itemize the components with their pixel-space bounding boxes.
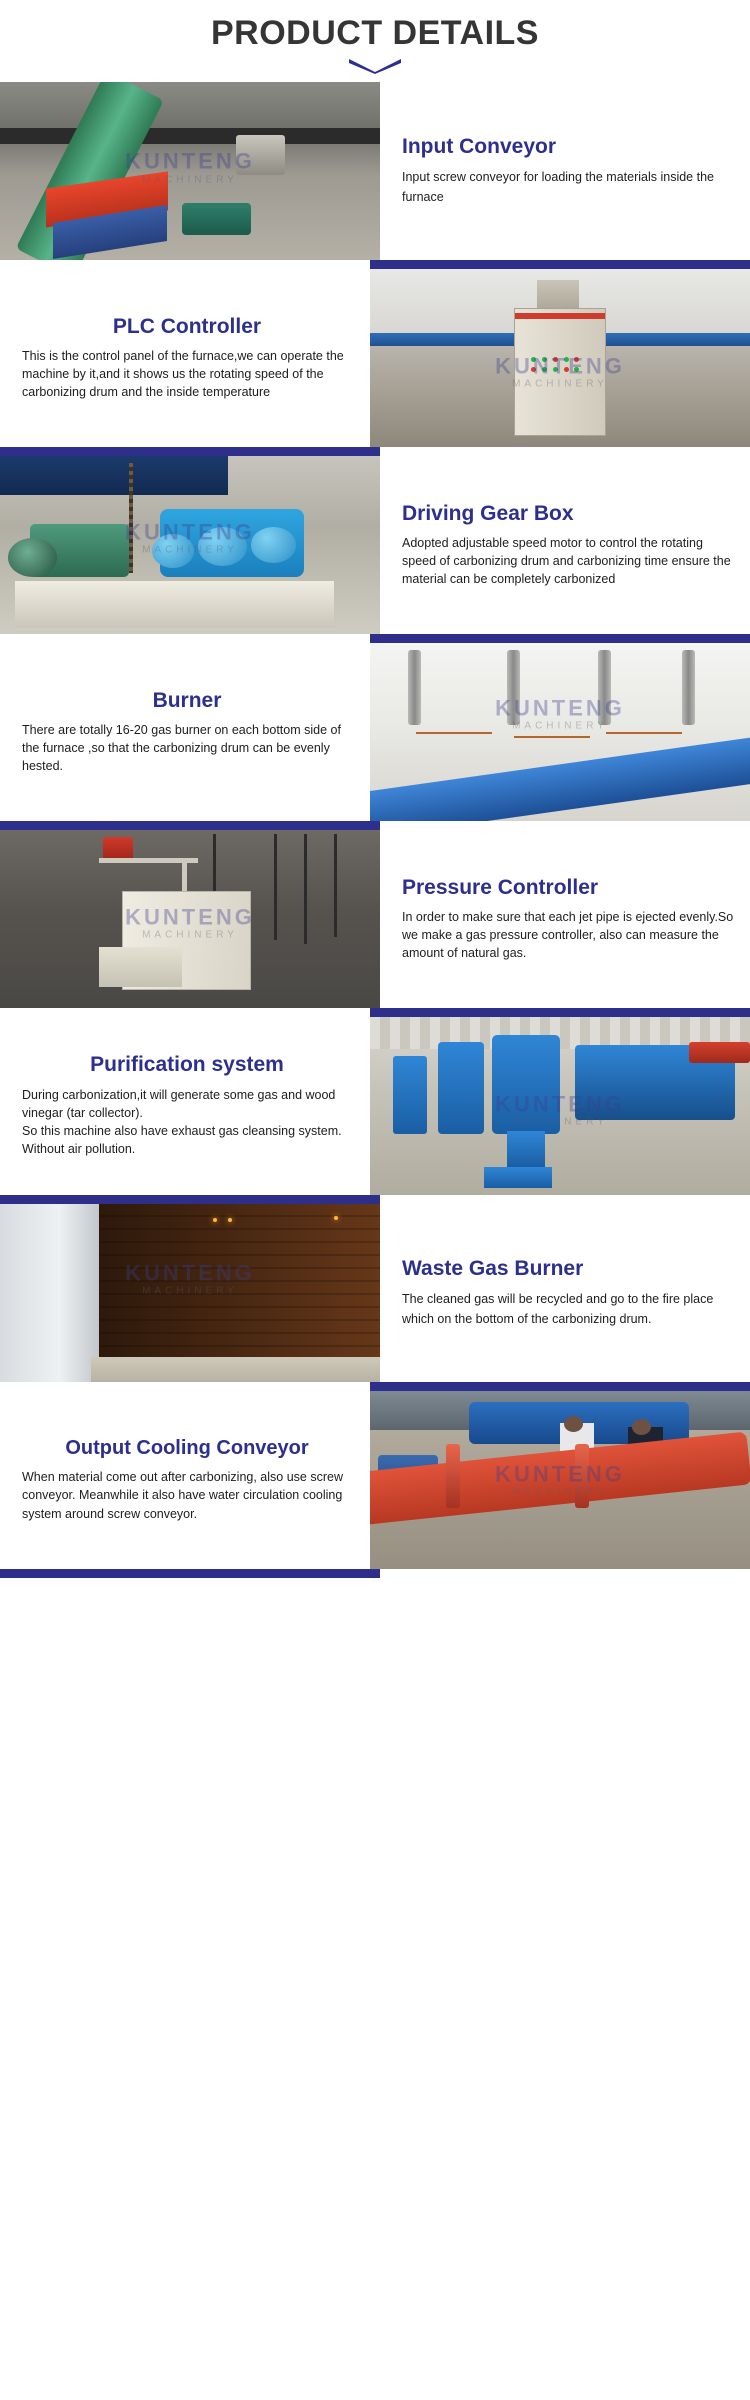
section-image-driving-gear-box: KUNTENG MACHINERY xyxy=(0,456,380,634)
divider xyxy=(0,260,750,269)
divider xyxy=(0,447,750,456)
divider xyxy=(0,821,750,830)
section-heading: Input Conveyor xyxy=(402,135,736,158)
section-image-burner: KUNTENG MACHINERY xyxy=(370,643,750,821)
section-text-plc-controller: PLC Controller This is the control panel… xyxy=(0,269,370,447)
section-pressure-controller: KUNTENG MACHINERY Pressure Controller In… xyxy=(0,830,750,1017)
section-image-input-conveyor: KUNTENG MACHINERY xyxy=(0,82,380,260)
section-text-input-conveyor: Input Conveyor Input screw conveyor for … xyxy=(380,82,750,260)
section-heading: Burner xyxy=(22,689,352,712)
section-heading: Output Cooling Conveyor xyxy=(22,1437,352,1459)
section-waste-gas-burner: KUNTENG MACHINERY Waste Gas Burner The c… xyxy=(0,1204,750,1391)
section-body: Adopted adjustable speed motor to contro… xyxy=(402,534,736,589)
divider xyxy=(0,1382,750,1391)
section-image-output-cooling-conveyor: KUNTENG MACHINERY xyxy=(370,1391,750,1569)
page-title: PRODUCT DETAILS xyxy=(0,0,750,50)
section-output-cooling-conveyor: KUNTENG MACHINERY Output Cooling Conveyo… xyxy=(0,1391,750,1578)
section-heading: PLC Controller xyxy=(22,315,352,338)
section-driving-gear-box: KUNTENG MACHINERY Driving Gear Box Adopt… xyxy=(0,456,750,643)
section-image-purification-system: KUNTENG MACHINERY xyxy=(370,1017,750,1195)
section-input-conveyor: KUNTENG MACHINERY Input Conveyor Input s… xyxy=(0,82,750,269)
section-heading: Waste Gas Burner xyxy=(402,1257,736,1280)
section-heading: Driving Gear Box xyxy=(402,502,736,525)
section-purification-system: KUNTENG MACHINERY Purification system Du… xyxy=(0,1017,750,1204)
section-body: The cleaned gas will be recycled and go … xyxy=(402,1289,736,1330)
divider xyxy=(0,634,750,643)
section-body: There are totally 16-20 gas burner on ea… xyxy=(22,721,352,776)
section-body: During carbonization,it will generate so… xyxy=(22,1086,352,1159)
section-image-pressure-controller: KUNTENG MACHINERY xyxy=(0,830,380,1008)
chevron-wrap xyxy=(0,58,750,74)
section-heading: Pressure Controller xyxy=(402,876,736,899)
divider xyxy=(0,1569,750,1578)
page-header: PRODUCT DETAILS xyxy=(0,0,750,82)
divider xyxy=(0,1195,750,1204)
section-body: This is the control panel of the furnace… xyxy=(22,347,352,402)
section-image-plc-controller: KUNTENG MACHINERY xyxy=(370,269,750,447)
divider xyxy=(0,1008,750,1017)
chevron-down-icon xyxy=(349,58,401,74)
section-text-driving-gear-box: Driving Gear Box Adopted adjustable spee… xyxy=(380,456,750,634)
section-text-waste-gas-burner: Waste Gas Burner The cleaned gas will be… xyxy=(380,1204,750,1382)
section-heading: Purification system xyxy=(22,1053,352,1076)
section-body: In order to make sure that each jet pipe… xyxy=(402,908,736,963)
section-burner: KUNTENG MACHINERY Burner There are total… xyxy=(0,643,750,830)
section-body: When material come out after carbonizing… xyxy=(22,1468,352,1523)
section-image-waste-gas-burner: KUNTENG MACHINERY xyxy=(0,1204,380,1382)
section-plc-controller: KUNTENG MACHINERY PLC Controller This is… xyxy=(0,269,750,456)
section-text-burner: Burner There are totally 16-20 gas burne… xyxy=(0,643,370,821)
section-text-output-cooling-conveyor: Output Cooling Conveyor When material co… xyxy=(0,1391,370,1569)
section-body: Input screw conveyor for loading the mat… xyxy=(402,167,736,208)
section-text-pressure-controller: Pressure Controller In order to make sur… xyxy=(380,830,750,1008)
section-text-purification-system: Purification system During carbonization… xyxy=(0,1017,370,1195)
